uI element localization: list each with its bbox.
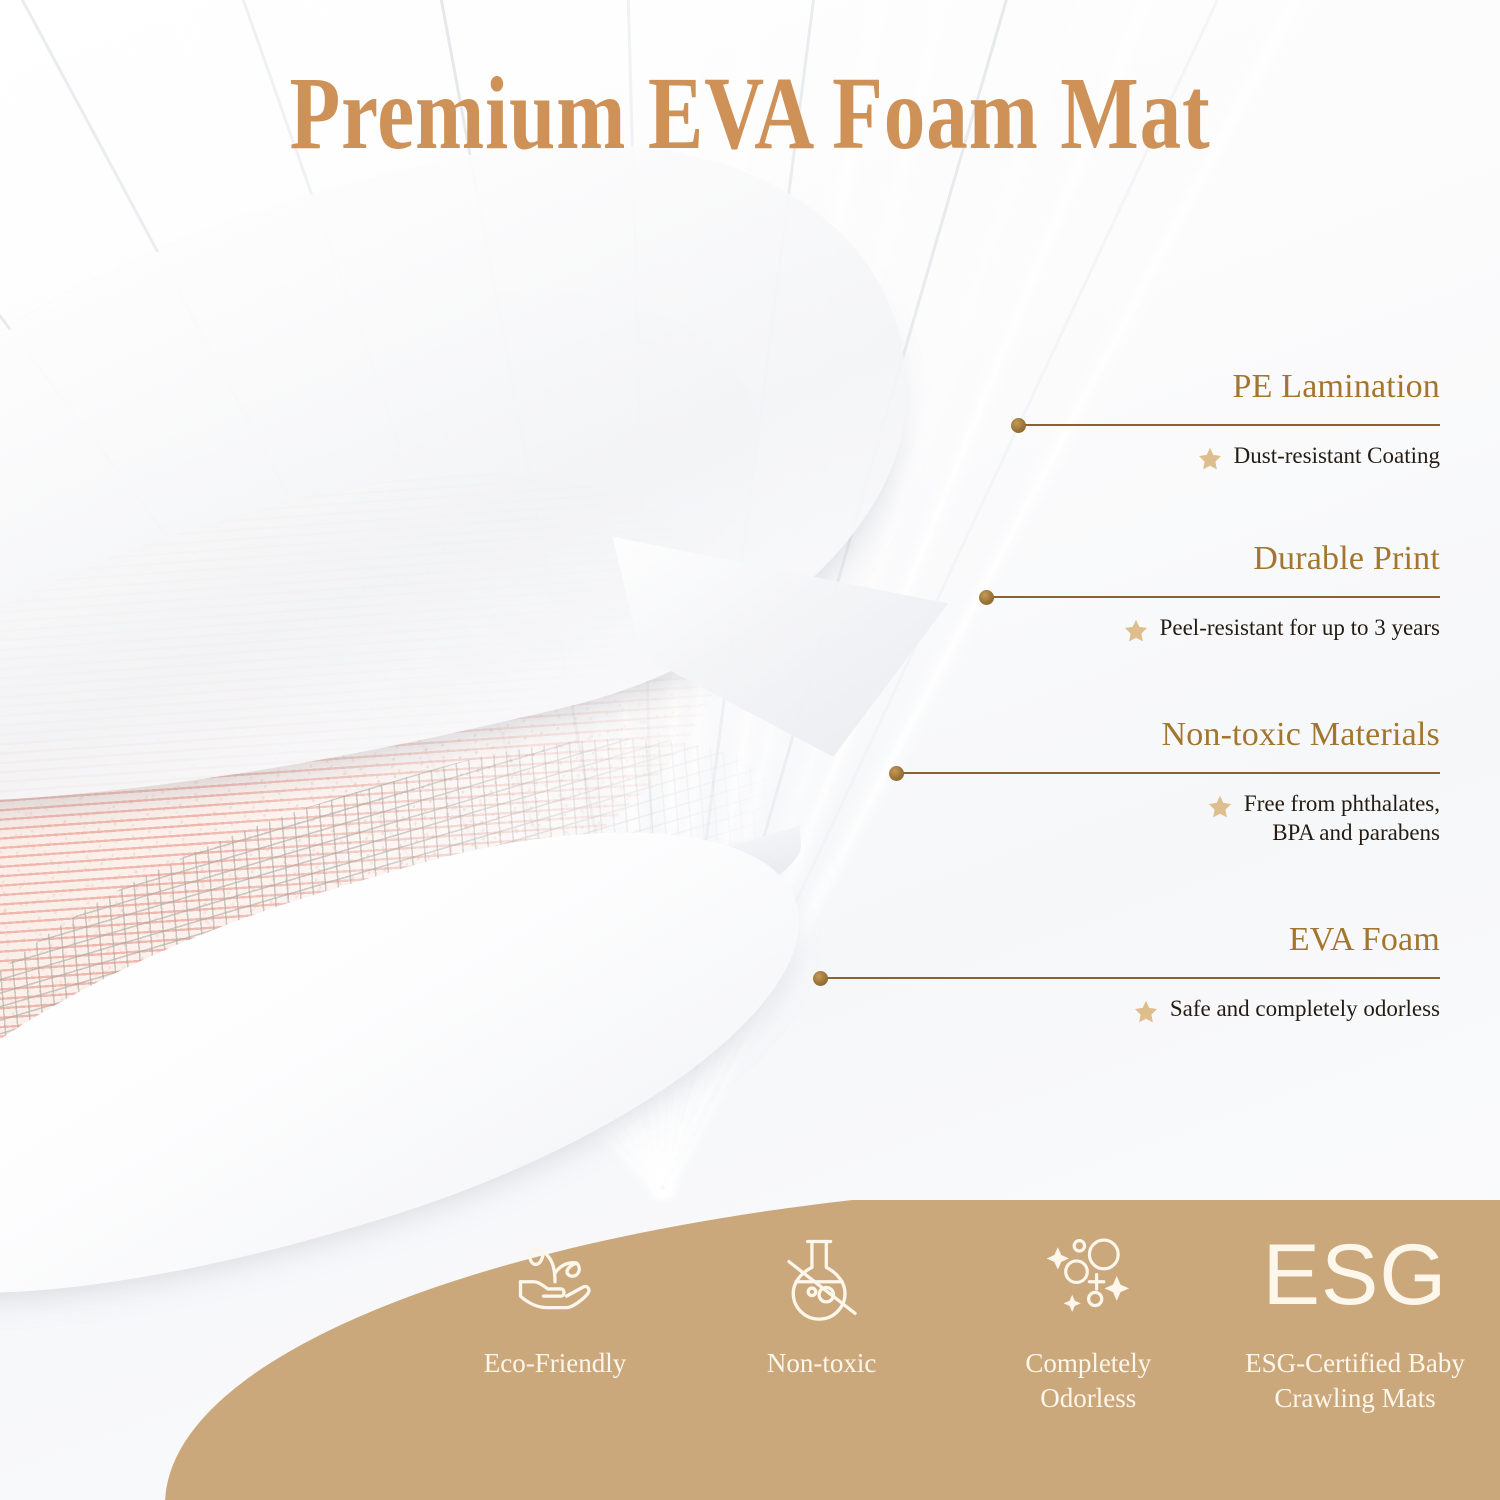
feature-heading: Durable Print	[800, 542, 1440, 576]
infographic-canvas: Premium EVA Foam Mat PE Lamination Dust-…	[0, 0, 1500, 1500]
esg-wordmark: ESG	[1263, 1220, 1448, 1332]
feature-rule-dot	[1011, 418, 1026, 433]
star-icon	[1133, 999, 1159, 1030]
feature-detail: Safe and completely odorless	[1170, 995, 1440, 1024]
no-chemical-flask-icon	[776, 1220, 868, 1332]
feature-detail: Dust-resistant Coating	[1234, 442, 1440, 471]
feature-rule	[800, 765, 1440, 781]
feature-rule-dot	[979, 590, 994, 605]
badge-label: Completely Odorless	[1025, 1346, 1151, 1416]
badge-label: Eco-Friendly	[484, 1346, 626, 1381]
feature-durable-print: Durable Print Peel-resistant for up to 3…	[800, 542, 1440, 649]
badge-eco-friendly: Eco-Friendly	[430, 1220, 680, 1381]
badge-non-toxic: Non-toxic	[697, 1220, 947, 1381]
feature-rule-dot	[813, 971, 828, 986]
star-icon	[1123, 618, 1149, 649]
page-title: Premium EVA Foam Mat	[150, 62, 1350, 166]
badge-label: Non-toxic	[767, 1346, 876, 1381]
badge-row: Eco-Friendly Non-toxic	[430, 1220, 1480, 1470]
star-icon	[1207, 794, 1233, 825]
feature-detail: Free from phthalates, BPA and parabens	[1244, 790, 1440, 848]
feature-detail-row: Free from phthalates, BPA and parabens	[800, 790, 1440, 848]
feature-heading: PE Lamination	[800, 370, 1440, 404]
feature-detail-row: Peel-resistant for up to 3 years	[800, 614, 1440, 649]
feature-detail-row: Safe and completely odorless	[800, 995, 1440, 1030]
feature-eva-foam: EVA Foam Safe and completely odorless	[800, 923, 1440, 1030]
feature-rule	[800, 589, 1440, 605]
hand-plant-icon	[509, 1220, 601, 1332]
feature-pe-lamination: PE Lamination Dust-resistant Coating	[800, 370, 1440, 477]
star-icon	[1197, 446, 1223, 477]
feature-detail: Peel-resistant for up to 3 years	[1160, 614, 1440, 643]
feature-non-toxic-materials: Non-toxic Materials Free from phthalates…	[800, 718, 1440, 848]
feature-rule	[800, 417, 1440, 433]
feature-rule-dot	[889, 766, 904, 781]
badge-odorless: Completely Odorless	[963, 1220, 1213, 1416]
feature-rule	[800, 970, 1440, 986]
feature-heading: Non-toxic Materials	[800, 718, 1440, 752]
feature-heading: EVA Foam	[800, 923, 1440, 957]
feature-detail-row: Dust-resistant Coating	[800, 442, 1440, 477]
esg-mark-text: ESG	[1263, 1235, 1448, 1317]
sparkle-bubbles-icon	[1042, 1220, 1134, 1332]
badge-esg-certified: ESG ESG-Certified Baby Crawling Mats	[1230, 1220, 1480, 1416]
badge-label: ESG-Certified Baby Crawling Mats	[1245, 1346, 1465, 1416]
